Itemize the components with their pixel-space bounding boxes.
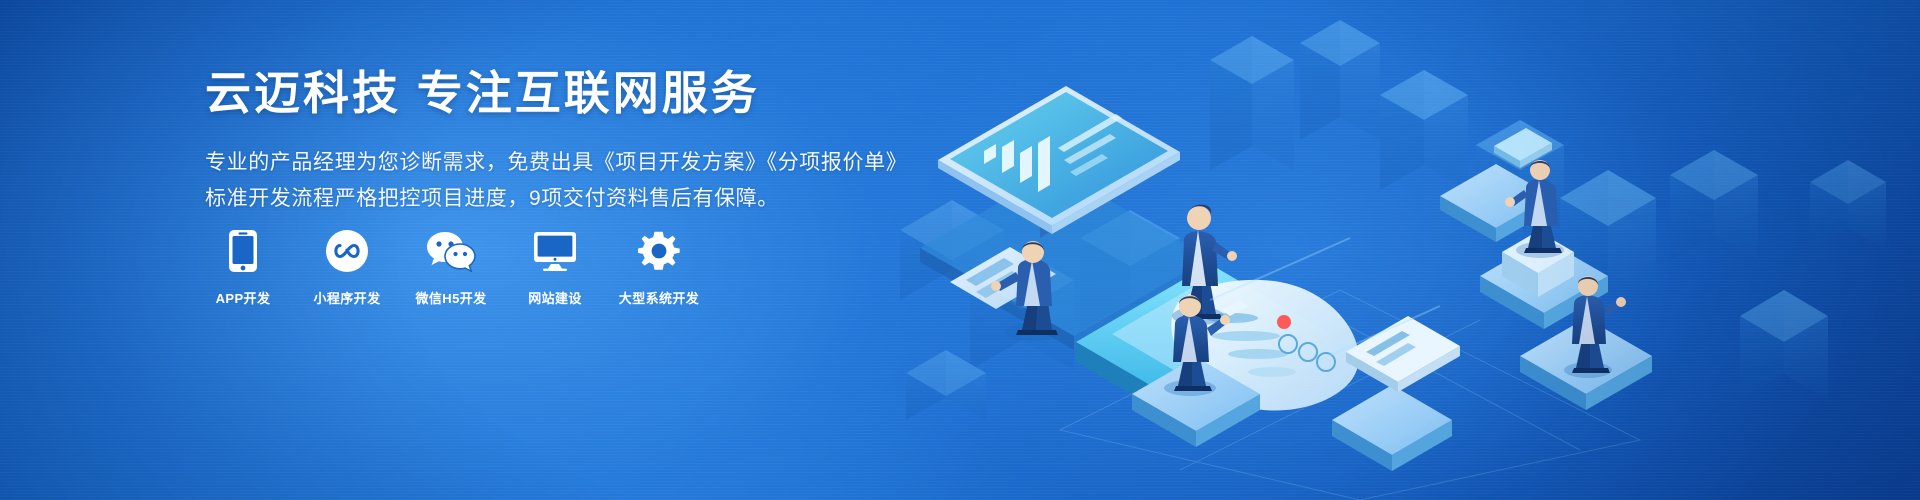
service-label: 微信H5开发: [415, 288, 486, 307]
floating-ui-panel: [1346, 316, 1460, 392]
service-list: APP开发 小程序开发 微信: [205, 228, 697, 307]
mid-lower-platform: [1332, 385, 1452, 471]
service-label: 大型系统开发: [619, 288, 699, 307]
service-item-wechat-h5[interactable]: 微信H5开发: [413, 228, 489, 307]
service-item-website[interactable]: 网站建设: [517, 228, 593, 307]
subtitle-line-1: 专业的产品经理为您诊断需求，免费出具《项目开发方案》《分项报价单》: [205, 146, 925, 180]
service-label: APP开发: [216, 288, 271, 307]
hero-banner: 云迈科技 专注互联网服务 专业的产品经理为您诊断需求，免费出具《项目开发方案》《…: [0, 0, 1920, 500]
gear-icon: [638, 228, 680, 274]
mini-program-icon: [325, 228, 369, 274]
page-title: 云迈科技 专注互联网服务: [205, 66, 925, 120]
mobile-phone-icon: [228, 228, 258, 274]
alert-dot: [1277, 315, 1291, 329]
service-label: 小程序开发: [313, 288, 380, 307]
service-item-large-system[interactable]: 大型系统开发: [621, 228, 697, 307]
isometric-illustration: [880, 0, 1920, 500]
service-item-app[interactable]: APP开发: [205, 228, 281, 307]
subtitle-line-2: 标准开发流程严格把控项目进度，9项交付资料售后有保障。: [205, 182, 925, 216]
monitor-icon: [533, 228, 577, 274]
service-label: 网站建设: [528, 288, 582, 307]
wechat-icon: [426, 228, 476, 274]
banner-copy: 云迈科技 专注互联网服务 专业的产品经理为您诊断需求，免费出具《项目开发方案》《…: [205, 66, 925, 216]
service-item-mini-program[interactable]: 小程序开发: [309, 228, 385, 307]
